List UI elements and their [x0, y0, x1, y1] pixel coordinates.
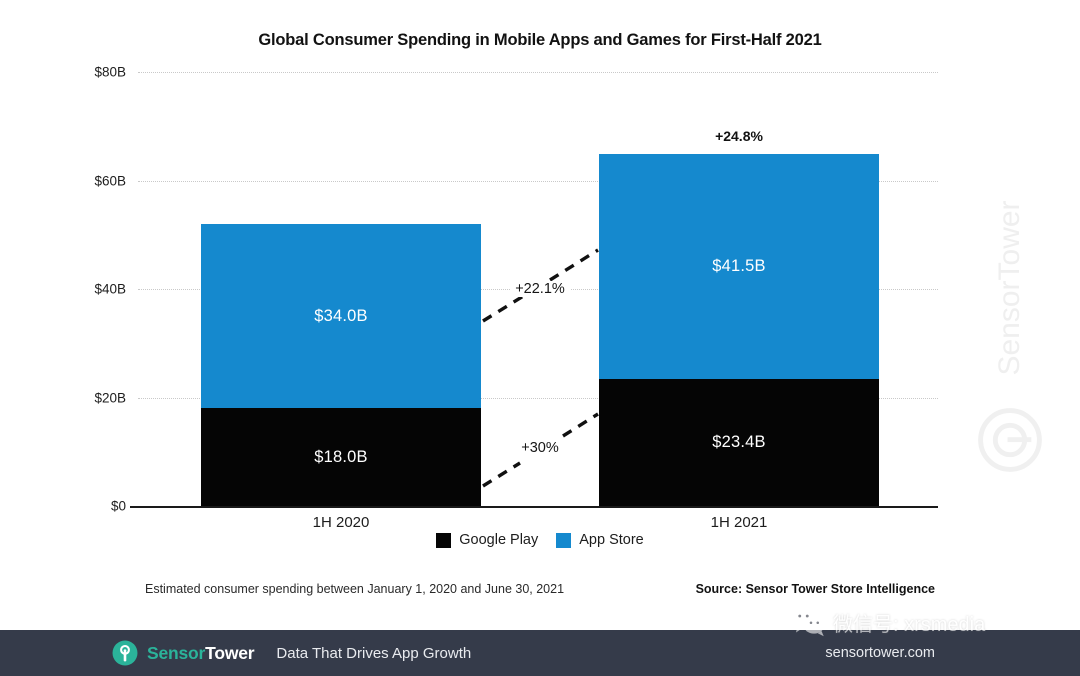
growth-label-app-store: +22.1% [510, 281, 570, 297]
bar-segment-value-label: $23.4B [712, 433, 766, 452]
legend-swatch-icon [556, 533, 571, 548]
bar-segment-google-play[interactable]: $18.0B [201, 408, 481, 506]
brand-name-second: Tower [205, 643, 254, 663]
y-axis-tick-label: $0 [60, 499, 126, 514]
sensortower-logo-icon [112, 640, 138, 666]
chart-page: Global Consumer Spending in Mobile Apps … [0, 0, 1080, 676]
sensortower-watermark-text: SensorTower [993, 157, 1027, 419]
x-axis-category-label: 1H 2021 [599, 514, 879, 531]
sensortower-watermark: SensorTower [965, 155, 1055, 475]
x-axis-line [130, 506, 938, 508]
brand-name-first: Sensor [147, 643, 205, 663]
y-axis-tick-label: $20B [60, 390, 126, 405]
bar-segment-app-store[interactable]: $41.5B [599, 154, 879, 379]
y-axis-tick-label: $80B [60, 65, 126, 80]
footnote-left: Estimated consumer spending between Janu… [145, 582, 564, 596]
y-axis-tick-label: $60B [60, 173, 126, 188]
legend-label: App Store [579, 532, 644, 548]
brand-website-url[interactable]: sensortower.com [825, 645, 935, 661]
x-axis-category-label: 1H 2020 [201, 514, 481, 531]
sensortower-logo-icon [975, 405, 1045, 475]
total-growth-label: +24.8% [599, 128, 879, 144]
bar-segment-value-label: $34.0B [314, 307, 368, 326]
bar-segment-app-store[interactable]: $34.0B [201, 224, 481, 408]
growth-label-google-play: +30% [516, 440, 564, 456]
bottom-brand-bar: SensorTower Data That Drives App Growth … [0, 630, 1080, 676]
bar-group[interactable]: $18.0B$34.0B [201, 72, 481, 506]
chart-legend: Google PlayApp Store [0, 532, 1080, 548]
brand-tagline: Data That Drives App Growth [276, 645, 471, 662]
bar-segment-value-label: $18.0B [314, 448, 368, 467]
chart-title: Global Consumer Spending in Mobile Apps … [0, 31, 1080, 50]
footnote-source: Source: Sensor Tower Store Intelligence [696, 582, 935, 596]
bar-segment-google-play[interactable]: $23.4B [599, 379, 879, 506]
y-axis-tick-label: $40B [60, 282, 126, 297]
legend-item[interactable]: Google Play [436, 532, 538, 548]
legend-item[interactable]: App Store [556, 532, 644, 548]
legend-swatch-icon [436, 533, 451, 548]
brand-name: SensorTower [147, 643, 254, 664]
bar-group[interactable]: $23.4B$41.5B+24.8% [599, 72, 879, 506]
bar-segment-value-label: $41.5B [712, 257, 766, 276]
legend-label: Google Play [459, 532, 538, 548]
